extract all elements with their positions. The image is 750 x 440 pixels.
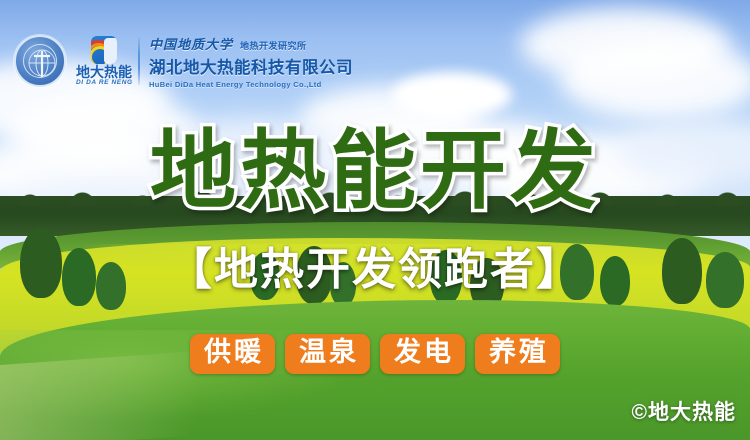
service-tag-powergen[interactable]: 发电 bbox=[380, 334, 465, 374]
hero-subline: 【地热开发领跑者】 bbox=[0, 248, 750, 292]
logo-blade-shape bbox=[104, 38, 117, 64]
promo-banner: 地大热能 DI DA RE NENG 中国地质大学 地热开发研究所 湖北地大热能… bbox=[0, 0, 750, 440]
logo-mark-box bbox=[91, 36, 117, 64]
copyright-watermark: ©地大热能 bbox=[632, 396, 736, 426]
logo-name-pinyin: DI DA RE NENG bbox=[76, 79, 132, 86]
logo-name-cn: 地大热能 bbox=[76, 65, 132, 80]
university-name: 中国地质大学 bbox=[149, 34, 233, 53]
institute-name: 地热开发研究所 bbox=[240, 39, 307, 52]
dida-rainbow-logo-icon: 地大热能 DI DA RE NENG bbox=[76, 36, 132, 87]
university-seal-icon bbox=[14, 35, 66, 87]
company-name-cn: 湖北地大热能科技有限公司 bbox=[149, 54, 353, 78]
header-divider bbox=[138, 37, 140, 85]
service-tag-list: 供暖 温泉 发电 养殖 bbox=[0, 334, 750, 374]
service-tag-hotspring[interactable]: 温泉 bbox=[285, 334, 370, 374]
brand-header: 地大热能 DI DA RE NENG 中国地质大学 地热开发研究所 湖北地大热能… bbox=[14, 30, 353, 92]
organization-text-block: 中国地质大学 地热开发研究所 湖北地大热能科技有限公司 HuBei DiDa H… bbox=[149, 34, 353, 89]
service-tag-heating[interactable]: 供暖 bbox=[190, 334, 275, 374]
organization-line-1: 中国地质大学 地热开发研究所 bbox=[149, 34, 353, 53]
service-tag-aquaculture[interactable]: 养殖 bbox=[475, 334, 560, 374]
company-name-en: HuBei DiDa Heat Energy Technology Co.,Lt… bbox=[149, 80, 353, 89]
hero-headline: 地热能开发 bbox=[0, 128, 750, 214]
